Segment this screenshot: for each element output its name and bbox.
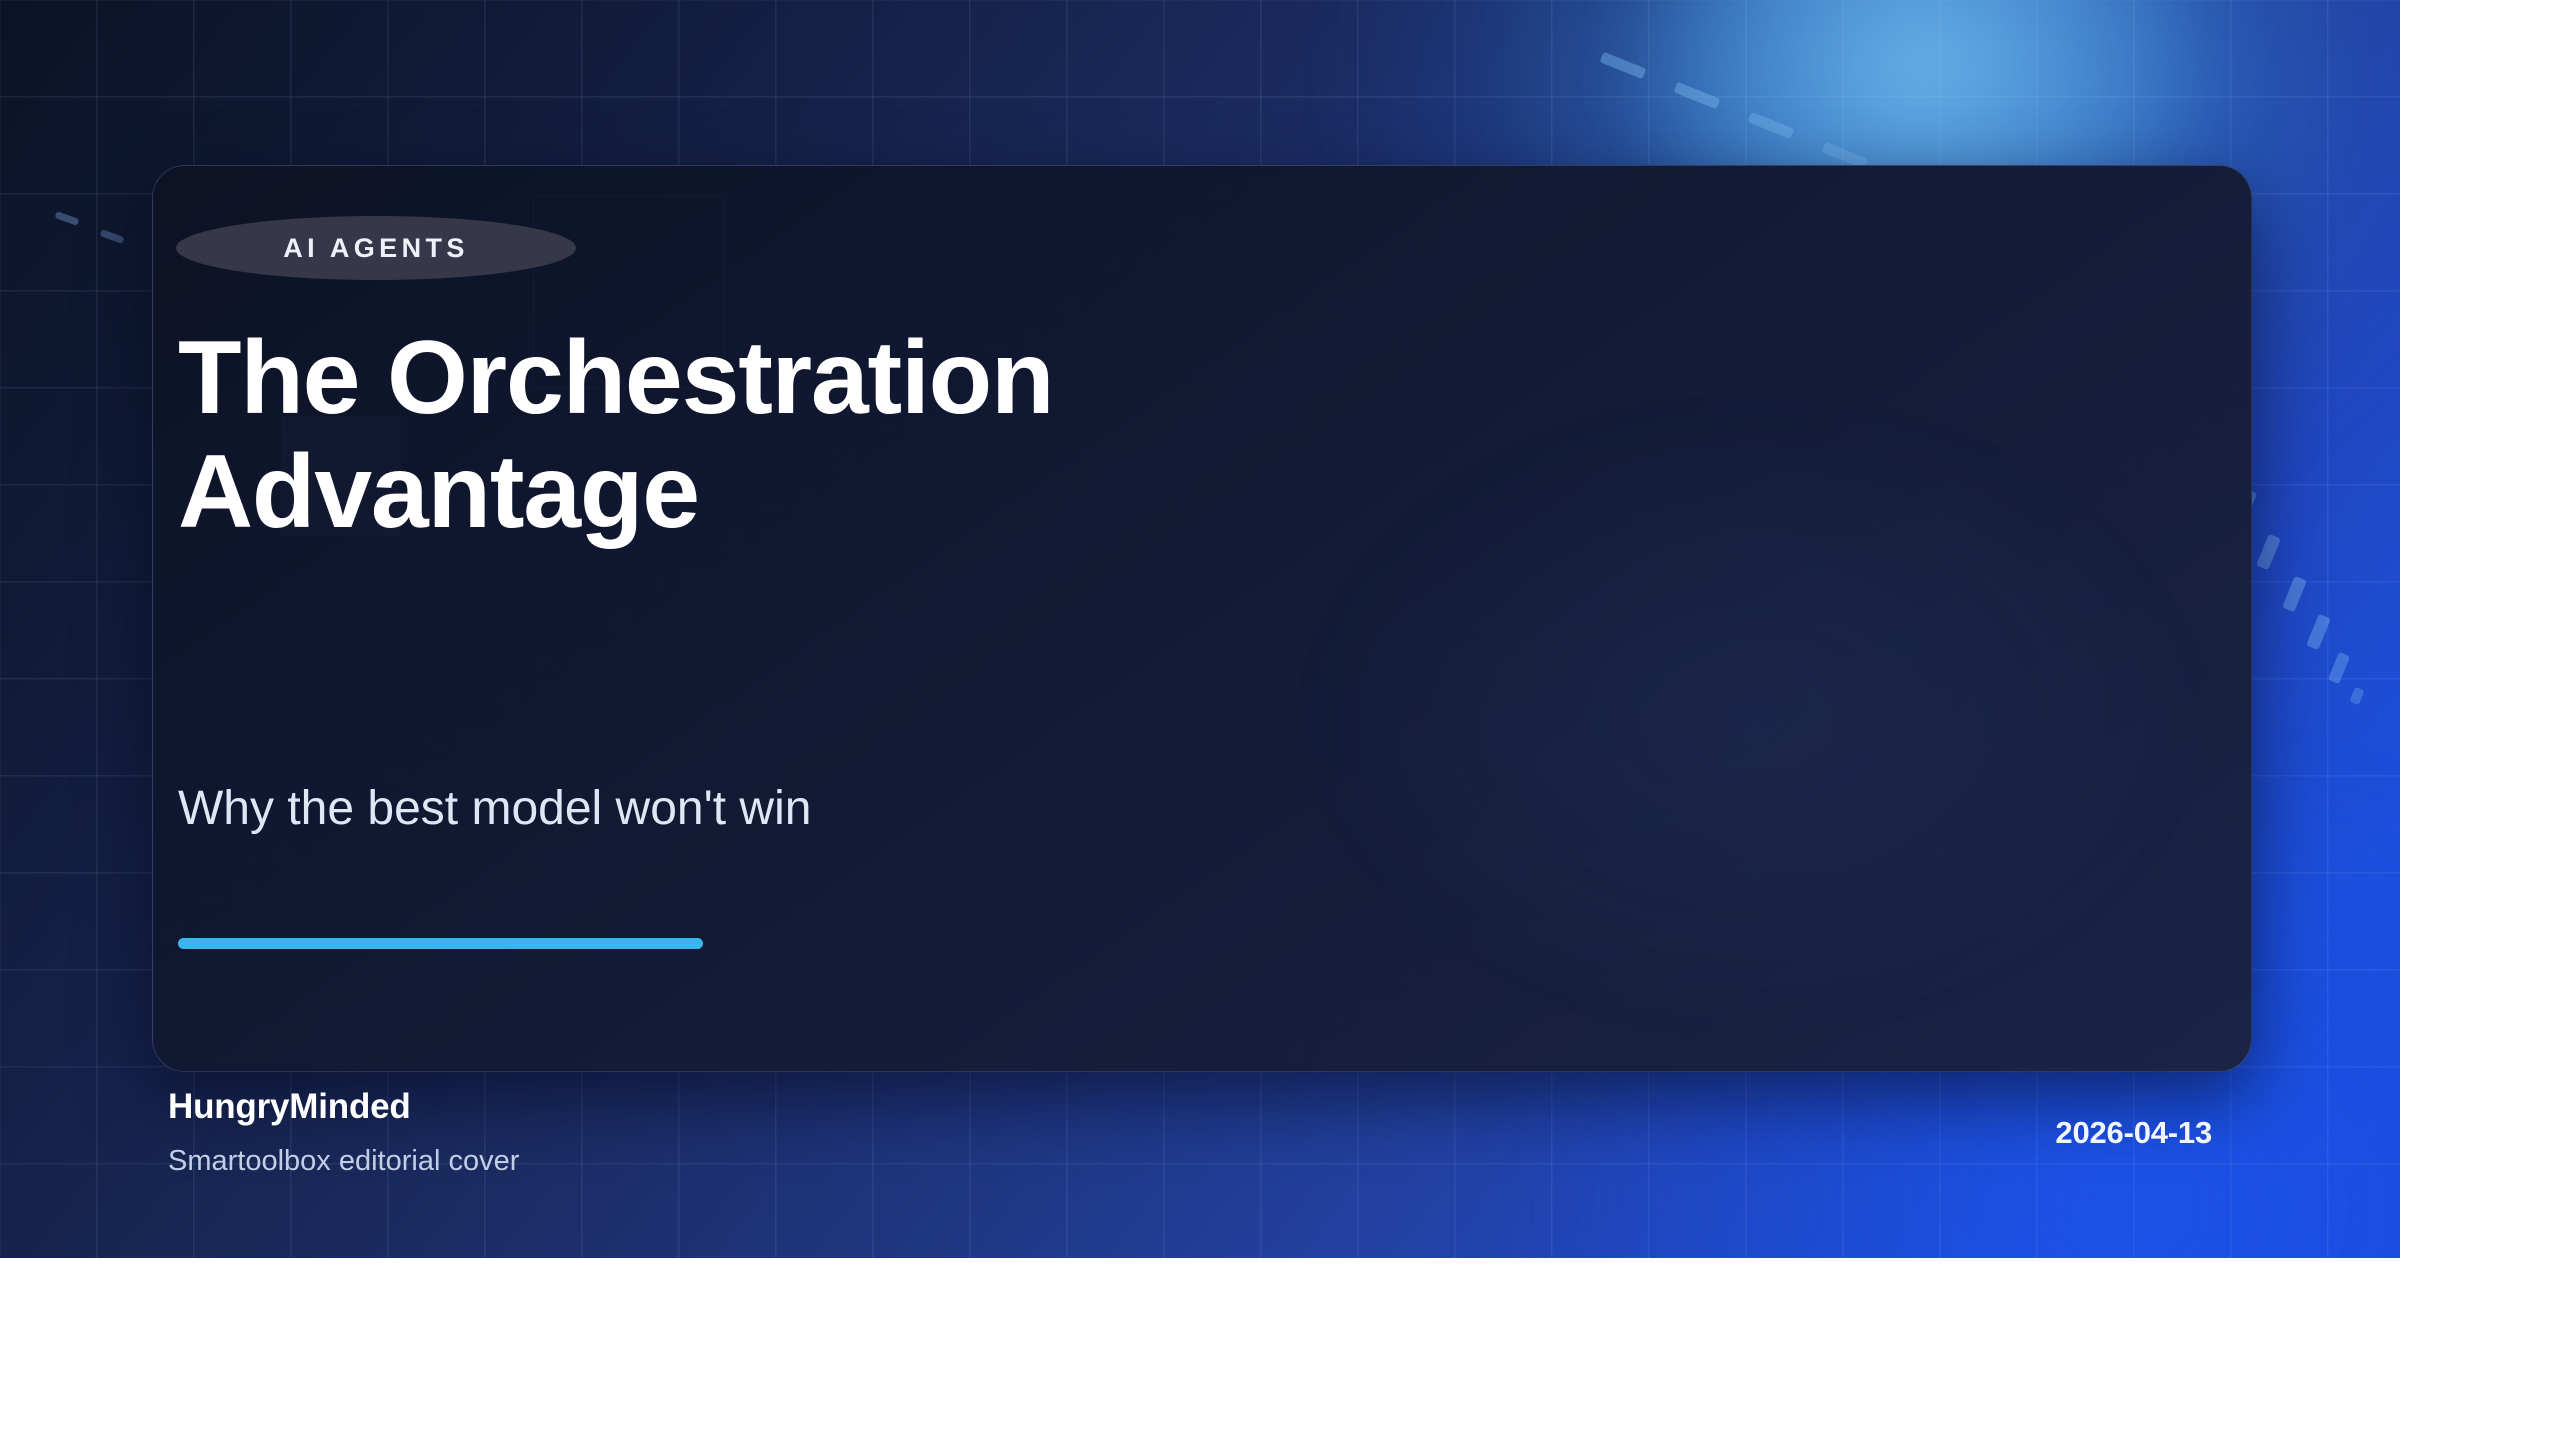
brand-name: HungryMinded	[168, 1087, 411, 1127]
eyebrow-badge: AI AGENTS	[176, 216, 576, 280]
cover-canvas: AI AGENTS The Orchestration Advantage Wh…	[0, 0, 2400, 1258]
cover-card: AI AGENTS The Orchestration Advantage Wh…	[152, 165, 2252, 1072]
accent-rule	[178, 938, 703, 949]
cover-title: The Orchestration Advantage	[178, 321, 1528, 550]
decorative-dash-line-right	[2230, 480, 2400, 730]
cover-footer: HungryMinded Smartoolbox editorial cover…	[0, 1070, 2400, 1258]
cover-date: 2026-04-13	[2055, 1115, 2212, 1151]
eyebrow-badge-label: AI AGENTS	[283, 233, 469, 264]
cover-subtitle: Why the best model won't win	[178, 779, 1578, 839]
brand-tagline: Smartoolbox editorial cover	[168, 1145, 519, 1178]
